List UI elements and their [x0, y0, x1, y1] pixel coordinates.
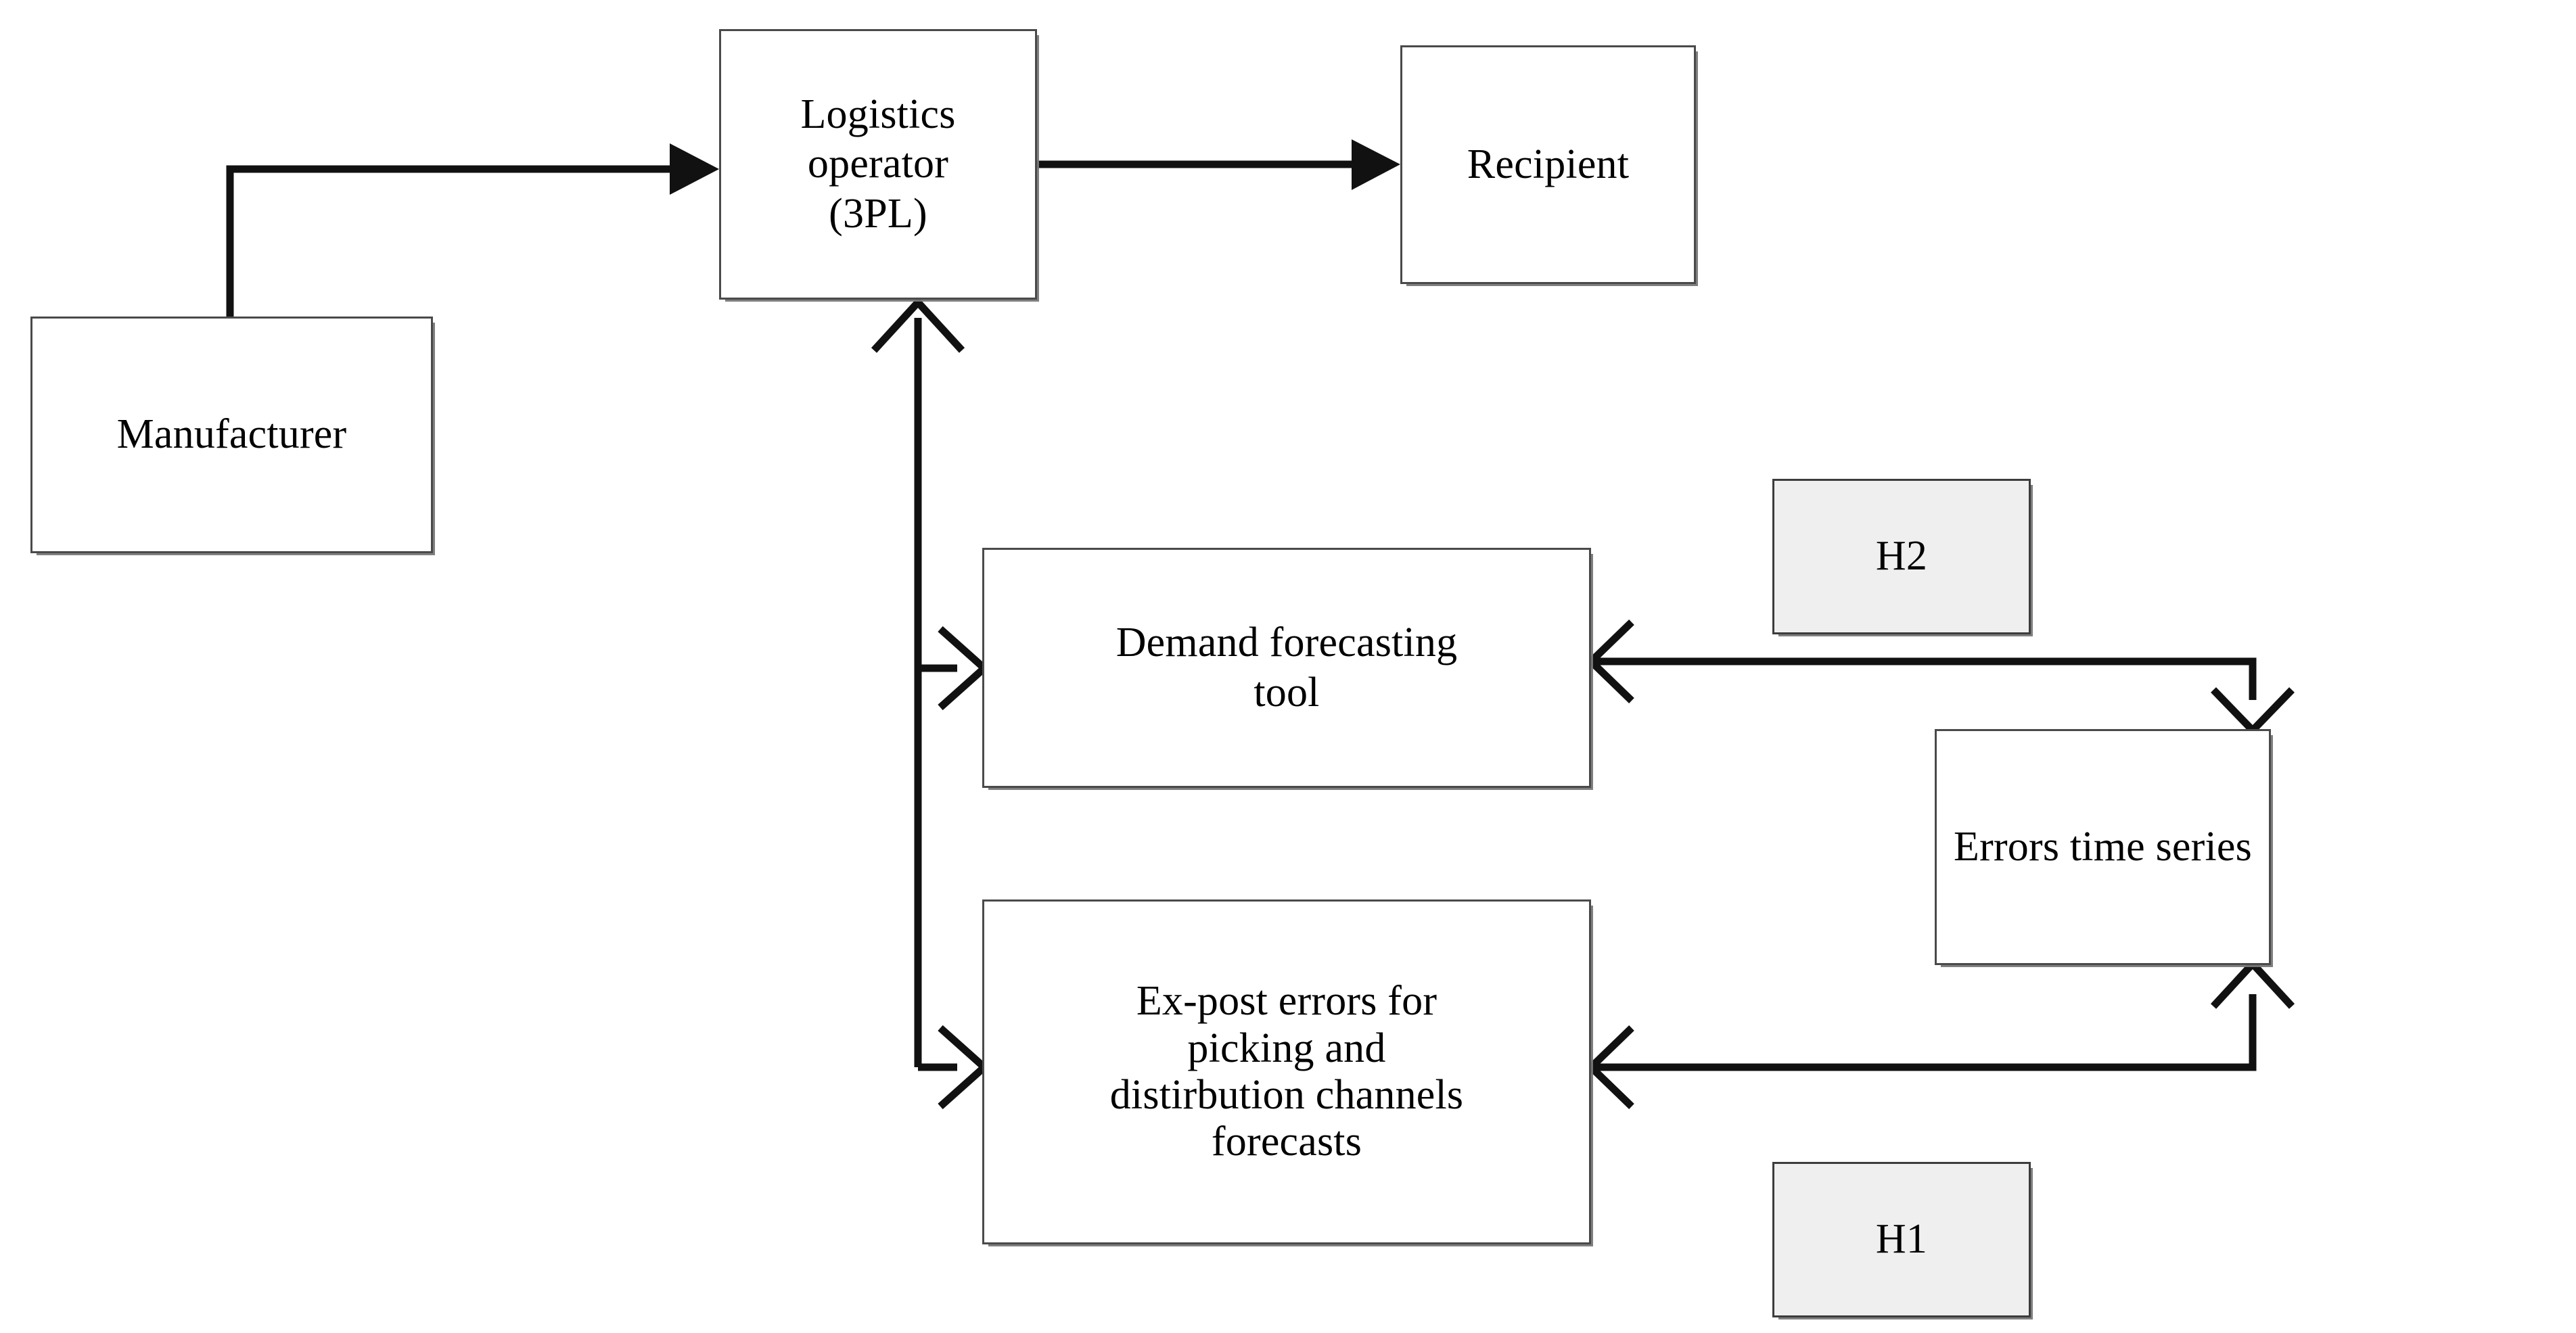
node-recipient: Recipient [1400, 45, 1696, 284]
node-hypothesis-h2: H2 [1772, 479, 2031, 634]
edge-errors-series-to-forecast-tool [1591, 622, 2292, 730]
node-label-errors-time-series: Errors time series [1937, 822, 2269, 872]
node-label-ex-post-errors: Ex-post errors for picking and distirbut… [984, 978, 1589, 1166]
node-label-logistics-operator: Logistics operator (3PL) [721, 90, 1035, 238]
edge-forecasts-to-logistics-trunk [874, 302, 984, 1106]
node-hypothesis-h1: H1 [1772, 1162, 2031, 1317]
node-demand-forecasting-tool: Demand forecasting tool [982, 548, 1591, 788]
node-logistics-operator: Logistics operator (3PL) [719, 29, 1037, 300]
node-label-demand-forecasting-tool: Demand forecasting tool [984, 618, 1589, 717]
edge-manufacturer-to-logistics [230, 143, 719, 317]
node-ex-post-errors: Ex-post errors for picking and distirbut… [982, 899, 1591, 1244]
node-label-hypothesis-h2: H2 [1774, 532, 2029, 581]
node-errors-time-series: Errors time series [1935, 729, 2271, 965]
edge-logistics-to-recipient [1037, 139, 1400, 190]
node-label-hypothesis-h1: H1 [1774, 1215, 2029, 1264]
diagram-canvas: ManufacturerLogistics operator (3PL)Reci… [0, 0, 2576, 1333]
node-label-recipient: Recipient [1402, 140, 1694, 189]
node-label-manufacturer: Manufacturer [32, 410, 431, 459]
node-manufacturer: Manufacturer [30, 317, 433, 553]
edge-errors-series-to-expost-errors [1591, 964, 2292, 1106]
